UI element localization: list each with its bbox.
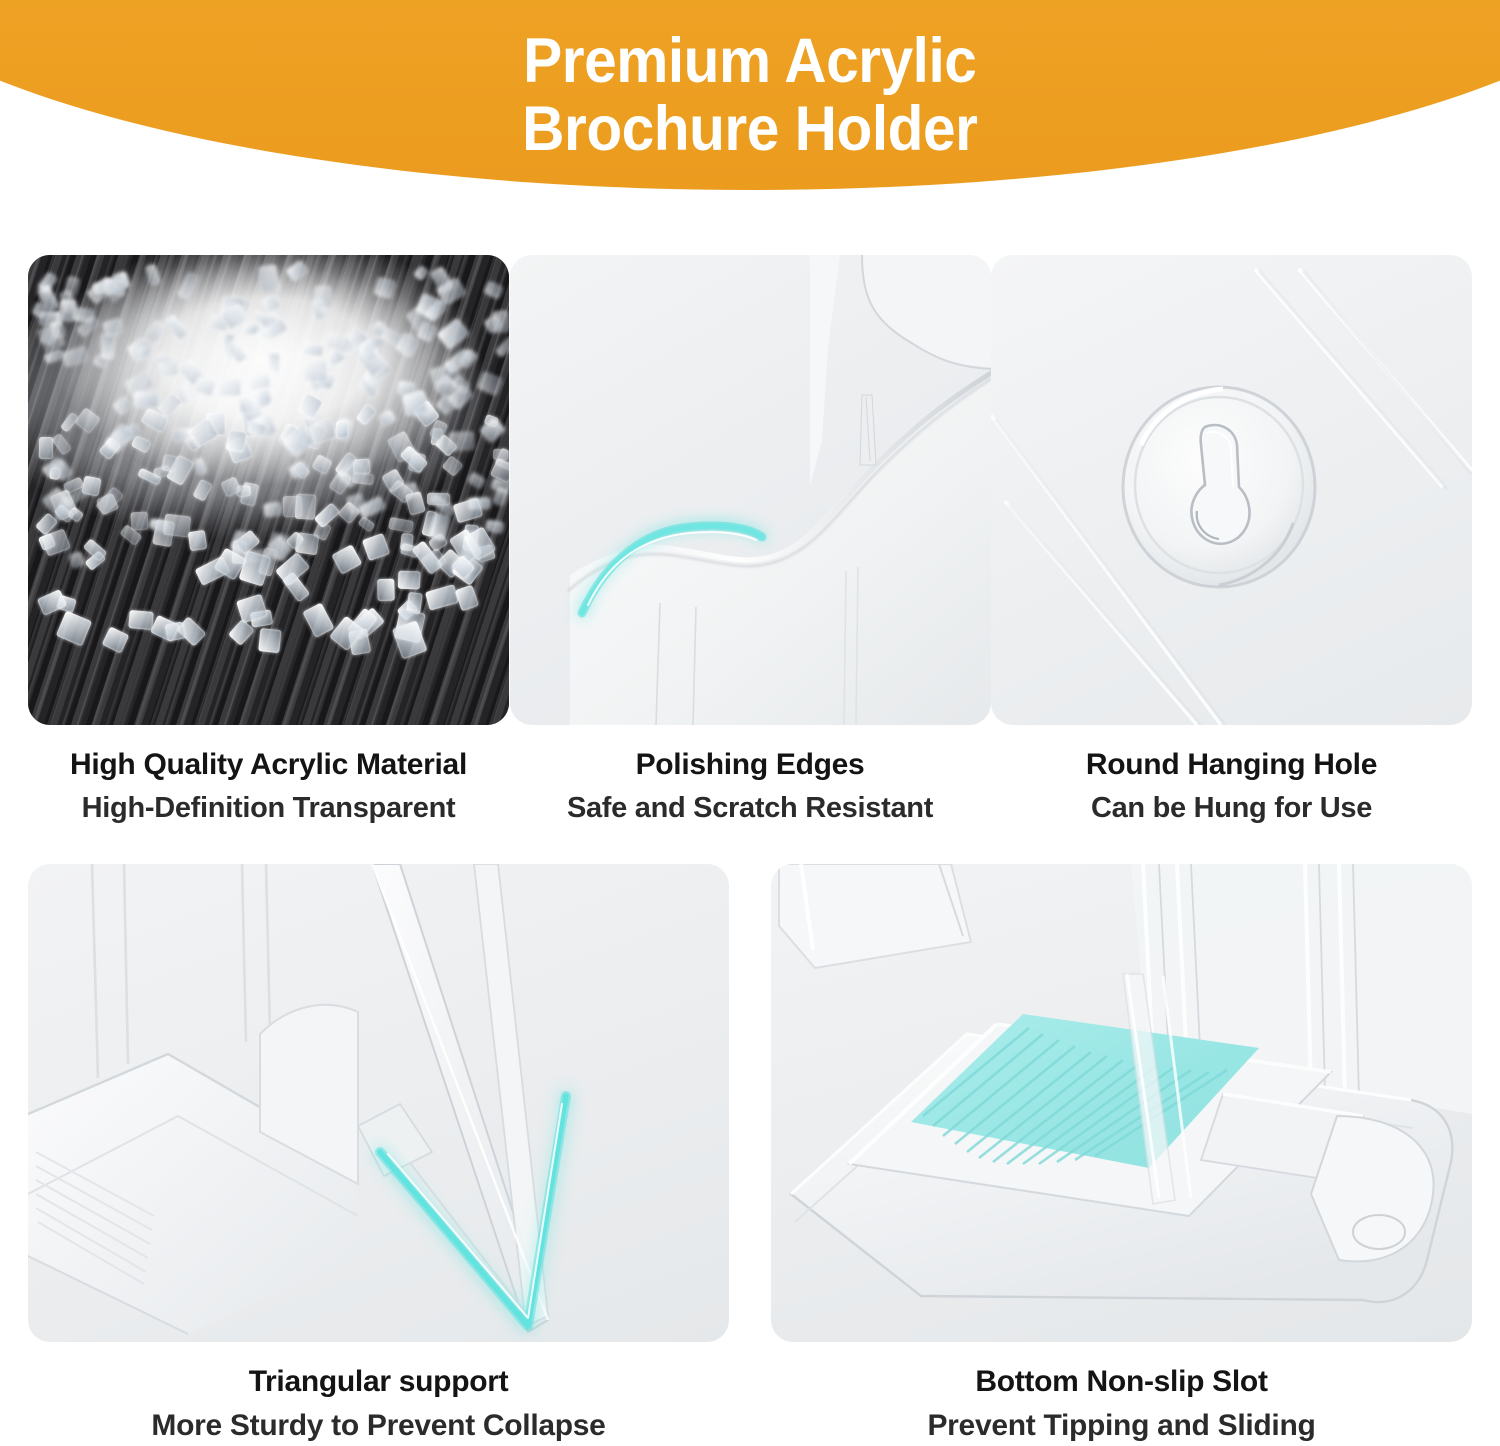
acrylic-pellet <box>51 432 72 455</box>
acrylic-pellet <box>304 360 327 381</box>
acrylic-top-curve <box>862 255 991 367</box>
acrylic-pellet <box>495 335 509 357</box>
page-title-line-1: Premium Acrylic <box>523 26 976 96</box>
feature-card-polishing-edges: Polishing Edges Safe and Scratch Resista… <box>510 255 991 827</box>
acrylic-pellet <box>295 494 316 520</box>
acrylic-pellet <box>377 578 395 600</box>
acrylic-pellet <box>134 392 158 408</box>
acrylic-pellet <box>37 589 67 616</box>
acrylic-pellet <box>336 421 348 438</box>
front-panel-seams <box>92 864 270 1078</box>
acrylic-pellet <box>39 437 53 459</box>
caption-title: Polishing Edges <box>510 747 991 782</box>
acrylic-pellet <box>314 285 331 308</box>
acrylic-pellet <box>425 584 459 611</box>
acrylic-pellet <box>64 276 80 296</box>
acrylic-pellet <box>102 627 130 654</box>
acrylic-pellet <box>484 280 504 299</box>
acrylic-pellet <box>362 533 390 561</box>
caption-subtitle: Can be Hung for Use <box>991 790 1472 826</box>
acrylic-pellet <box>455 585 479 612</box>
acrylic-pellet <box>131 436 151 454</box>
acrylic-pellet <box>255 388 273 406</box>
caption-title: Triangular support <box>28 1364 729 1399</box>
acrylic-pellet <box>259 628 282 653</box>
acrylic-pellet <box>373 277 396 299</box>
hanging-hole-illustration <box>991 255 1472 725</box>
acrylic-pellet <box>286 260 309 282</box>
acrylic-pellet <box>239 397 256 413</box>
acrylic-pellet <box>192 479 212 501</box>
pellet-cluster <box>28 255 509 725</box>
triangular-support-photo <box>28 864 729 1342</box>
header-banner-content: Premium Acrylic Brochure Holder <box>0 0 1500 190</box>
feature-card-bottom-non-slip-slot: Bottom Non-slip Slot Prevent Tipping and… <box>771 864 1472 1445</box>
acrylic-pellet <box>399 445 427 473</box>
page-title: Premium Acrylic Brochure Holder <box>522 27 977 163</box>
acrylic-pellet <box>414 265 429 281</box>
acrylic-pellet <box>103 279 125 296</box>
acrylic-pellet <box>263 502 281 517</box>
acrylic-pellet <box>427 493 451 506</box>
acrylic-pellet <box>193 458 207 476</box>
acrylic-pellets-photo <box>28 255 509 725</box>
caption-title: High Quality Acrylic Material <box>28 747 509 782</box>
feature-card-triangular-support: Triangular support More Sturdy to Preven… <box>28 864 729 1445</box>
caption-subtitle: High-Definition Transparent <box>28 790 509 826</box>
acrylic-pellet <box>485 519 503 532</box>
caption-subtitle: Safe and Scratch Resistant <box>510 790 991 826</box>
acrylic-pellet <box>302 603 334 639</box>
caption-polishing-edges: Polishing Edges Safe and Scratch Resista… <box>510 725 991 827</box>
acrylic-pellet <box>49 467 60 480</box>
caption-high-quality-acrylic-material: High Quality Acrylic Material High-Defin… <box>28 725 509 827</box>
acrylic-pellet <box>378 409 396 426</box>
caption-triangular-support: Triangular support More Sturdy to Preven… <box>28 1342 729 1445</box>
acrylic-pellet <box>355 404 375 425</box>
acrylic-pellet <box>165 314 189 341</box>
acrylic-pellet <box>102 318 124 338</box>
acrylic-pellet <box>311 454 332 475</box>
acrylic-pellet <box>449 432 474 451</box>
acrylic-pellet <box>388 517 414 534</box>
acrylic-pellet <box>60 300 76 322</box>
acrylic-pellet <box>187 529 207 551</box>
page-title-line-2: Brochure Holder <box>522 95 977 163</box>
acrylic-pellet <box>467 472 486 489</box>
acrylic-pellet <box>128 610 154 630</box>
caption-title: Round Hanging Hole <box>991 747 1472 782</box>
caption-title: Bottom Non-slip Slot <box>771 1364 1472 1399</box>
acrylic-pellet <box>219 379 241 396</box>
polished-edge-illustration <box>510 255 991 725</box>
hanging-hole-photo <box>991 255 1472 725</box>
acrylic-pellet <box>130 511 148 530</box>
acrylic-pellet <box>101 334 114 359</box>
feature-row-1: High Quality Acrylic Material High-Defin… <box>0 255 1500 827</box>
caption-bottom-non-slip-slot: Bottom Non-slip Slot Prevent Tipping and… <box>771 1342 1472 1445</box>
acrylic-pellet <box>492 487 508 507</box>
acrylic-pellet <box>404 491 425 515</box>
acrylic-pellet <box>243 324 258 335</box>
acrylic-pellet <box>298 393 324 420</box>
acrylic-pellet <box>436 319 468 351</box>
triangular-support-illustration <box>28 864 729 1342</box>
acrylic-pellet <box>258 264 279 293</box>
polished-edge-photo <box>510 255 991 725</box>
acrylic-pellet <box>269 353 280 373</box>
feature-row-2: Triangular support More Sturdy to Preven… <box>0 864 1500 1445</box>
caption-subtitle: Prevent Tipping and Sliding <box>771 1407 1472 1445</box>
acrylic-pellet <box>176 271 199 300</box>
non-slip-slot-illustration <box>771 864 1472 1342</box>
acrylic-pellet <box>145 319 168 344</box>
header-banner: Premium Acrylic Brochure Holder <box>0 0 1500 190</box>
feature-card-high-quality-acrylic-material: High Quality Acrylic Material High-Defin… <box>28 255 509 827</box>
acrylic-pellet <box>55 610 91 646</box>
acrylic-pellet <box>288 460 309 480</box>
acrylic-pellet <box>68 551 85 568</box>
non-slip-slot-photo <box>771 864 1472 1342</box>
acrylic-pellet <box>112 396 132 416</box>
feature-grid: High Quality Acrylic Material High-Defin… <box>0 255 1500 1445</box>
acrylic-pellet <box>332 544 362 574</box>
acrylic-pellet <box>137 346 150 358</box>
acrylic-pellet <box>194 377 215 397</box>
acrylic-pellet <box>477 371 504 396</box>
acrylic-pellet <box>358 516 376 533</box>
acrylic-pellet <box>303 343 323 357</box>
caption-round-hanging-hole: Round Hanging Hole Can be Hung for Use <box>991 725 1472 827</box>
acrylic-pellet <box>453 497 483 523</box>
acrylic-pellet <box>158 359 179 377</box>
acrylic-pellet <box>146 264 161 286</box>
acrylic-pellet <box>61 346 89 368</box>
acrylic-pellet <box>163 513 191 537</box>
caption-subtitle: More Sturdy to Prevent Collapse <box>28 1407 729 1445</box>
acrylic-back-panel <box>810 255 840 485</box>
acrylic-pellet <box>397 570 420 589</box>
feature-card-round-hanging-hole: Round Hanging Hole Can be Hung for Use <box>991 255 1472 827</box>
acrylic-pellet <box>492 310 509 333</box>
acrylic-pellet <box>74 408 101 434</box>
acrylic-pellet <box>441 455 463 477</box>
